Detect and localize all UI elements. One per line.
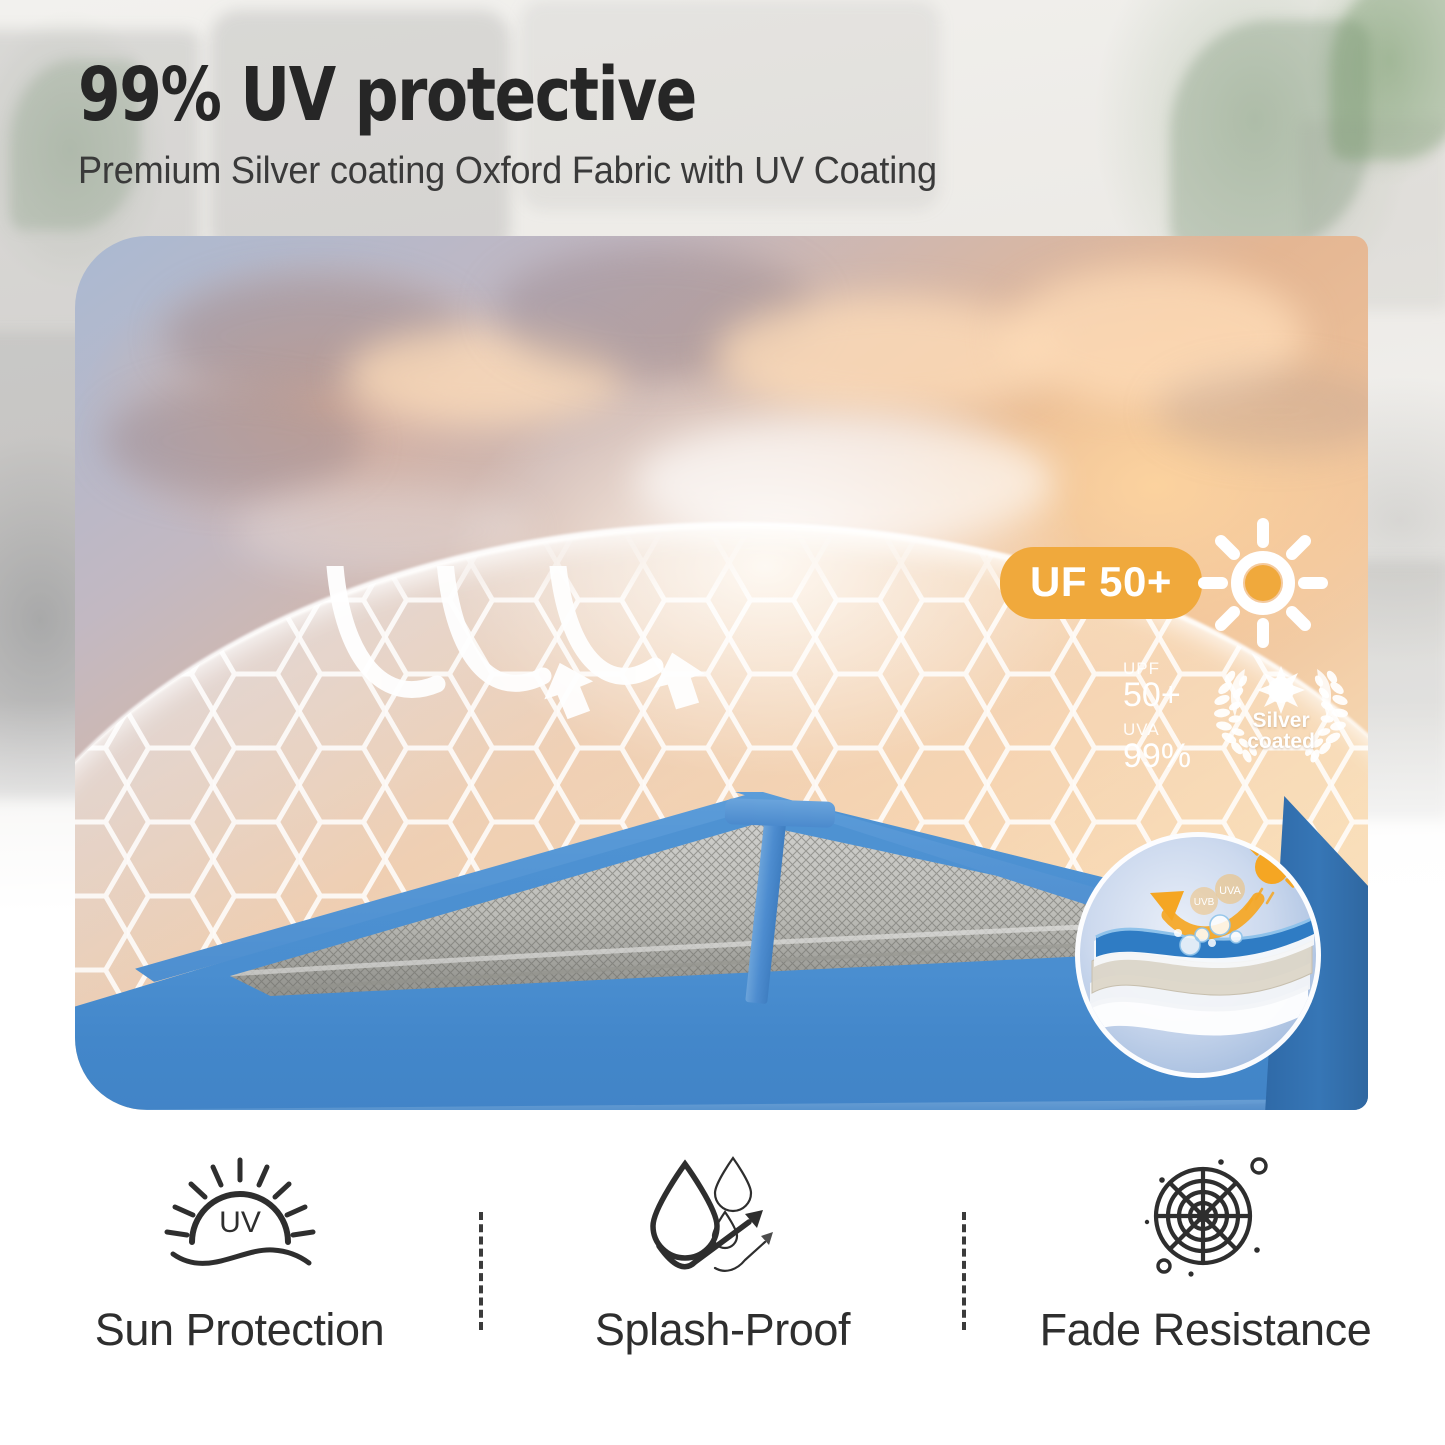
concentric-web-icon-svg: [1131, 1150, 1281, 1282]
water-droplet-repel-icon: [633, 1150, 813, 1282]
concentric-web-icon: [1131, 1150, 1281, 1282]
sun-icon: [1198, 518, 1328, 648]
cloud: [715, 296, 1055, 416]
silver-coated-line2: coated: [1201, 731, 1361, 752]
feature-fade-resistance: Fade Resistance: [966, 1150, 1445, 1356]
cloud: [105, 386, 365, 496]
feature-label-fade-resistance: Fade Resistance: [1040, 1304, 1372, 1356]
page-subtitle: Premium Silver coating Oxford Fabric wit…: [78, 150, 1123, 193]
fabric-layers-inset: UVA UVB: [1075, 832, 1321, 1078]
uva-chip-label: UVA: [1219, 885, 1241, 897]
feature-label-splash-proof: Splash-Proof: [595, 1304, 850, 1356]
silver-coated-seal: Silver coated: [1201, 664, 1361, 770]
feature-label-sun-protection: Sun Protection: [95, 1304, 385, 1356]
water-droplet-repel-icon-svg: [633, 1150, 813, 1282]
upf-label: UPF: [1123, 660, 1191, 677]
uvb-chip-label: UVB: [1194, 897, 1215, 908]
canopy-peak-cap: [725, 798, 836, 828]
uv-sunrise-icon: UV: [145, 1150, 335, 1282]
uf-rating-badge: UF 50+: [1000, 518, 1328, 648]
uf-rating-label: UF 50+: [1000, 547, 1202, 619]
silver-coated-label: Silver coated: [1201, 710, 1361, 753]
fabric-layers-uv-deflection-diagram-icon: UVA UVB: [1080, 837, 1316, 1073]
silver-coated-line1: Silver: [1201, 710, 1361, 731]
upf-stats-text: UPF 50+ UVA 99%: [1123, 660, 1191, 773]
feature-divider-2: [962, 1212, 966, 1330]
uv-sunrise-icon-svg: UV: [145, 1150, 335, 1282]
background-foliage-topright: [1330, 0, 1445, 160]
uva-value: 99%: [1123, 739, 1191, 773]
uv-icon-text: UV: [219, 1206, 261, 1239]
product-hero-image: UF 50+ UPF 50+ UVA 99%: [75, 236, 1368, 1110]
page-title: 99% UV protective: [78, 58, 1090, 132]
upf-stats-block: UPF 50+ UVA 99%: [1123, 660, 1361, 773]
feature-splash-proof: Splash-Proof: [483, 1150, 962, 1356]
feature-row: UV Sun Protection Splash-Proof: [0, 1150, 1445, 1410]
uva-label: UVA: [1123, 721, 1191, 738]
feature-divider-1: [479, 1212, 483, 1330]
feature-sun-protection: UV Sun Protection: [0, 1150, 479, 1356]
header-block: 99% UV protective Premium Silver coating…: [78, 58, 1178, 193]
airflow-arrows-icon: [325, 566, 745, 786]
upf-value: 50+: [1123, 678, 1191, 712]
